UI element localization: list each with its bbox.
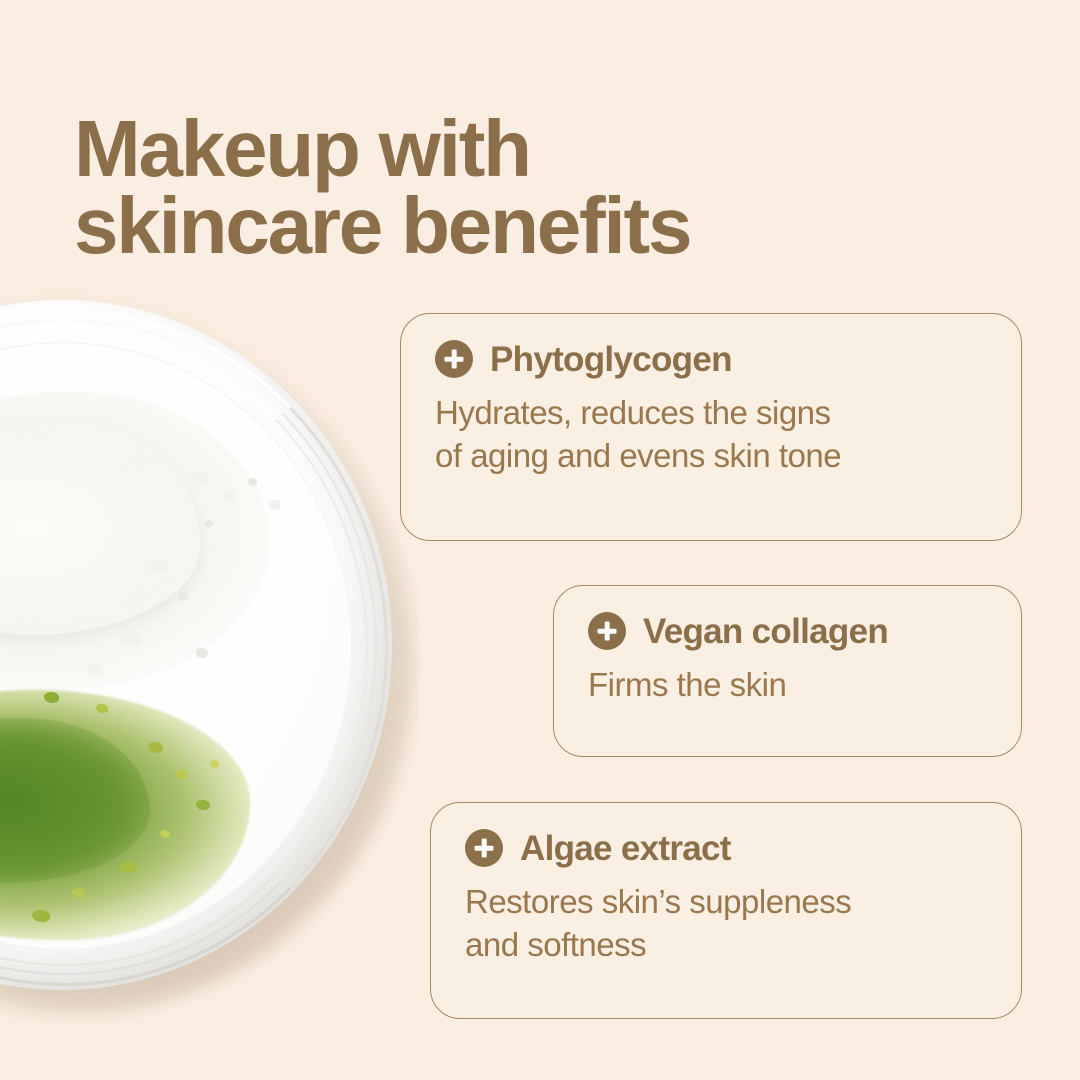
white-powder-mound	[0, 392, 270, 692]
benefit-card-header: Phytoglycogen	[435, 340, 991, 378]
dish-shadow	[0, 312, 414, 1012]
powder-speck	[192, 470, 208, 483]
powder-speck	[120, 630, 142, 645]
green-powder-mound	[0, 690, 250, 940]
green-flake	[44, 692, 59, 703]
plus-icon	[465, 829, 503, 867]
benefit-title: Algae extract	[520, 831, 731, 866]
benefit-card-header: Algae extract	[465, 829, 991, 867]
dish-well	[0, 342, 352, 950]
benefit-description: Hydrates, reduces the signs of aging and…	[435, 392, 991, 478]
marketing-graphic: Makeup with skincare benefits Phytoglyco…	[0, 0, 1080, 1080]
green-flake	[176, 770, 187, 779]
powder-speck	[268, 500, 281, 510]
ceramic-dish	[0, 300, 392, 990]
page-title: Makeup with skincare benefits	[74, 110, 914, 265]
headline-line-1: Makeup with	[74, 110, 914, 188]
green-flake	[196, 800, 210, 810]
powder-speck	[178, 592, 188, 601]
green-flake	[210, 760, 219, 768]
benefit-card-vegan-collagen[interactable]: Vegan collagen Firms the skin	[553, 585, 1022, 757]
green-flake	[32, 910, 50, 922]
benefit-card-header: Vegan collagen	[588, 612, 991, 650]
green-powder-core	[0, 718, 150, 883]
benefit-card-phytoglycogen[interactable]: Phytoglycogen Hydrates, reduces the sign…	[400, 313, 1022, 541]
green-flake	[96, 704, 108, 713]
green-flake	[72, 888, 85, 898]
white-powder-core	[0, 420, 200, 635]
powder-speck	[248, 478, 257, 486]
benefit-card-algae-extract[interactable]: Algae extract Restores skin’s suppleness…	[430, 802, 1022, 1019]
powder-speck	[196, 648, 208, 658]
green-flake	[160, 830, 170, 838]
benefit-title: Phytoglycogen	[490, 342, 732, 377]
dish-rim-inner-ring	[0, 328, 368, 966]
green-flake	[120, 862, 136, 873]
powder-speck	[150, 560, 168, 574]
benefit-title: Vegan collagen	[643, 614, 888, 649]
dish-rim-middle	[0, 319, 377, 975]
benefit-description: Restores skin’s suppleness and softness	[465, 881, 991, 967]
dish-rim-outer	[0, 310, 388, 986]
benefit-description: Firms the skin	[588, 664, 991, 707]
powder-speck	[224, 492, 235, 501]
plus-icon	[588, 612, 626, 650]
green-flake	[148, 742, 163, 753]
plus-icon	[435, 340, 473, 378]
powder-speck	[88, 664, 103, 675]
headline-line-2: skincare benefits	[74, 187, 914, 265]
powder-speck	[205, 520, 213, 527]
